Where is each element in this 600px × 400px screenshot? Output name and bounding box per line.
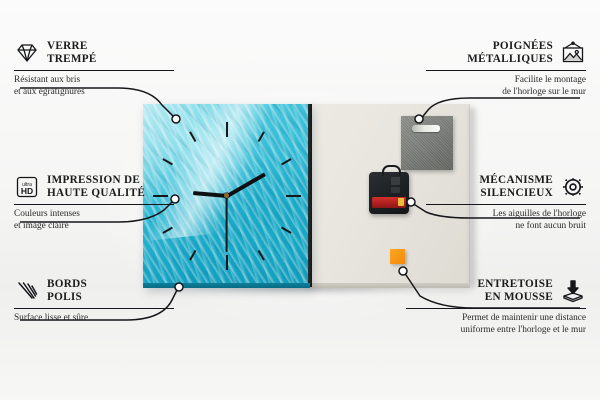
feature-title: ENTRETOISE EN MOUSSE <box>477 278 553 304</box>
feature-desc-line2: et image claire <box>14 221 174 232</box>
feature-desc: Permet de maintenir une distance uniform… <box>406 313 586 335</box>
feature-impression-haute-qualite: ultra HD IMPRESSION DE HAUTE QUALITÉ Cou… <box>14 174 174 232</box>
feature-title-line1: MÉCANISME <box>479 174 553 187</box>
svg-text:HD: HD <box>21 186 33 196</box>
feature-verre-trempe: VERRE TREMPÉ Résistant aux bris et aux é… <box>14 40 174 98</box>
feature-title-line1: VERRE <box>47 40 97 53</box>
feature-title-line2: TREMPÉ <box>47 53 97 66</box>
feature-title-line2: HAUTE QUALITÉ <box>47 187 145 200</box>
feature-desc: Les aiguilles de l'horloge ne font aucun… <box>426 209 586 231</box>
feature-desc-line1: Couleurs intenses <box>14 209 174 220</box>
feature-desc: Facilite le montage de l'horloge sur le … <box>426 75 586 97</box>
feature-desc-line2: de l'horloge sur le mur <box>426 87 586 98</box>
feature-header: VERRE TREMPÉ <box>14 40 174 66</box>
feature-title-line1: POIGNÉES <box>467 40 553 53</box>
gear-icon <box>560 175 586 199</box>
feature-title: MÉCANISME SILENCIEUX <box>479 174 553 200</box>
feature-rule <box>14 308 174 309</box>
feature-header: MÉCANISME SILENCIEUX <box>426 174 586 200</box>
feature-title-line1: IMPRESSION DE <box>47 174 145 187</box>
feature-title: IMPRESSION DE HAUTE QUALITÉ <box>47 174 145 200</box>
polished-edges-icon <box>14 279 40 303</box>
ultra-hd-icon: ultra HD <box>14 175 40 199</box>
feature-desc-line1: Permet de maintenir une distance <box>406 313 586 324</box>
feature-title-line2: POLIS <box>47 291 87 304</box>
arrow-down-layers-icon <box>560 279 586 303</box>
feature-rule <box>406 308 586 309</box>
feature-title-line1: BORDS <box>47 278 87 291</box>
feature-desc-line2: et aux égratignures <box>14 87 174 98</box>
feature-header: BORDS POLIS <box>14 278 174 304</box>
feature-poignees-metalliques: POIGNÉES MÉTALLIQUES Facilite le montage… <box>426 40 586 98</box>
feature-header: ENTRETOISE EN MOUSSE <box>406 278 586 304</box>
feature-title-line2: MÉTALLIQUES <box>467 53 553 66</box>
feature-mecanisme-silencieux: MÉCANISME SILENCIEUX Les aiguilles de l'… <box>426 174 586 232</box>
feature-desc-line2: ne font aucun bruit <box>426 221 586 232</box>
feature-rule <box>426 70 586 71</box>
feature-desc-line1: Facilite le montage <box>426 75 586 86</box>
feature-rule <box>14 204 174 205</box>
feature-rule <box>14 70 174 71</box>
feature-desc-line1: Résistant aux bris <box>14 75 174 86</box>
feature-desc-line1: Surface lisse et sûre <box>14 313 174 324</box>
feature-desc: Surface lisse et sûre <box>14 313 174 324</box>
feature-rule <box>426 204 586 205</box>
feature-desc-line2: uniforme entre l'horloge et le mur <box>406 325 586 336</box>
diamond-icon <box>14 41 40 65</box>
feature-desc: Couleurs intenses et image claire <box>14 209 174 231</box>
feature-title: VERRE TREMPÉ <box>47 40 97 66</box>
picture-frame-icon <box>560 41 586 65</box>
feature-title-line2: SILENCIEUX <box>479 187 553 200</box>
feature-entretoise-en-mousse: ENTRETOISE EN MOUSSE Permet de maintenir… <box>406 278 586 336</box>
feature-header: ultra HD IMPRESSION DE HAUTE QUALITÉ <box>14 174 174 200</box>
feature-title: BORDS POLIS <box>47 278 87 304</box>
feature-bords-polis: BORDS POLIS Surface lisse et sûre <box>14 278 174 325</box>
feature-title-line2: EN MOUSSE <box>477 291 553 304</box>
feature-desc-line1: Les aiguilles de l'horloge <box>426 209 586 220</box>
feature-title-line1: ENTRETOISE <box>477 278 553 291</box>
feature-header: POIGNÉES MÉTALLIQUES <box>426 40 586 66</box>
feature-title: POIGNÉES MÉTALLIQUES <box>467 40 553 66</box>
product-infographic: VERRE TREMPÉ Résistant aux bris et aux é… <box>0 0 600 400</box>
feature-desc: Résistant aux bris et aux égratignures <box>14 75 174 97</box>
